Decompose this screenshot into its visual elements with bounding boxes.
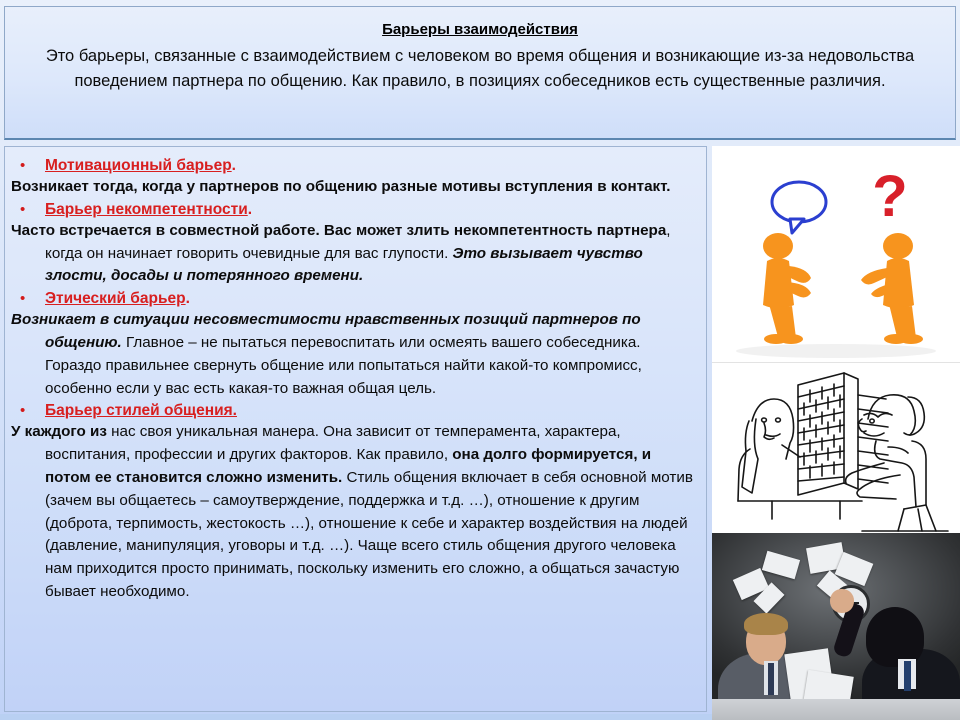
text-run: Часто встречается в совместной работе. В… xyxy=(11,222,666,239)
image-office-conflict xyxy=(712,533,960,720)
content-panel: •Мотивационный барьер.Возникает тогда, к… xyxy=(4,146,707,712)
barrier-heading: Барьер стилей общения. xyxy=(45,402,237,420)
page-title: Барьеры взаимодействия xyxy=(17,21,943,40)
bullet-icon: • xyxy=(11,158,45,173)
barrier-paragraph: Возникает в ситуации несовместимости нра… xyxy=(11,309,698,400)
header-paragraph: Это барьеры, связанные с взаимодействием… xyxy=(17,44,943,95)
barrier-heading-row: •Барьер некомпетентности. xyxy=(11,201,698,219)
image-column: ? xyxy=(712,146,960,720)
barrier-heading-row: •Этический барьер. xyxy=(11,290,698,308)
office-conflict-scene xyxy=(712,533,960,720)
barrier-list: •Мотивационный барьер.Возникает тогда, к… xyxy=(11,157,698,604)
image-brick-wall xyxy=(712,362,960,533)
desk xyxy=(712,699,960,720)
bullet-icon: • xyxy=(11,291,45,306)
text-run: Главное – не пытаться перевоспитать или … xyxy=(45,334,642,397)
barrier-block: •Мотивационный барьер.Возникает тогда, к… xyxy=(11,157,698,199)
barrier-paragraph: Часто встречается в совместной работе. В… xyxy=(11,220,698,288)
bottom-edge-strip xyxy=(0,714,712,720)
text-run: Возникает тогда, когда у партнеров по об… xyxy=(11,178,670,195)
question-mark-icon: ? xyxy=(872,164,907,229)
barrier-block: •Барьер некомпетентности.Часто встречает… xyxy=(11,201,698,288)
barrier-heading-row: •Барьер стилей общения. xyxy=(11,402,698,420)
barrier-heading: Этический барьер. xyxy=(45,290,190,308)
barrier-paragraph: У каждого из нас своя уникальная манера.… xyxy=(11,421,698,603)
header-box: Барьеры взаимодействия Это барьеры, связ… xyxy=(4,6,956,140)
barrier-paragraph: Возникает тогда, когда у партнеров по об… xyxy=(11,176,698,199)
brick-wall-illustration xyxy=(712,363,960,533)
bullet-icon: • xyxy=(11,202,45,217)
svg-text:?: ? xyxy=(872,164,907,229)
text-run: Стиль общения включает в себя основной м… xyxy=(45,469,693,600)
barrier-heading-row: •Мотивационный барьер. xyxy=(11,157,698,175)
barrier-block: •Барьер стилей общения.У каждого из нас … xyxy=(11,402,698,603)
barrier-heading: Барьер некомпетентности. xyxy=(45,201,252,219)
barrier-heading: Мотивационный барьер. xyxy=(45,157,236,175)
two-figures-illustration: ? xyxy=(712,146,960,362)
bullet-icon: • xyxy=(11,403,45,418)
text-run: У каждого из xyxy=(11,423,107,440)
image-two-figures: ? xyxy=(712,146,960,362)
barrier-block: •Этический барьер.Возникает в ситуации н… xyxy=(11,290,698,400)
slide-canvas: Барьеры взаимодействия Это барьеры, связ… xyxy=(0,0,960,720)
